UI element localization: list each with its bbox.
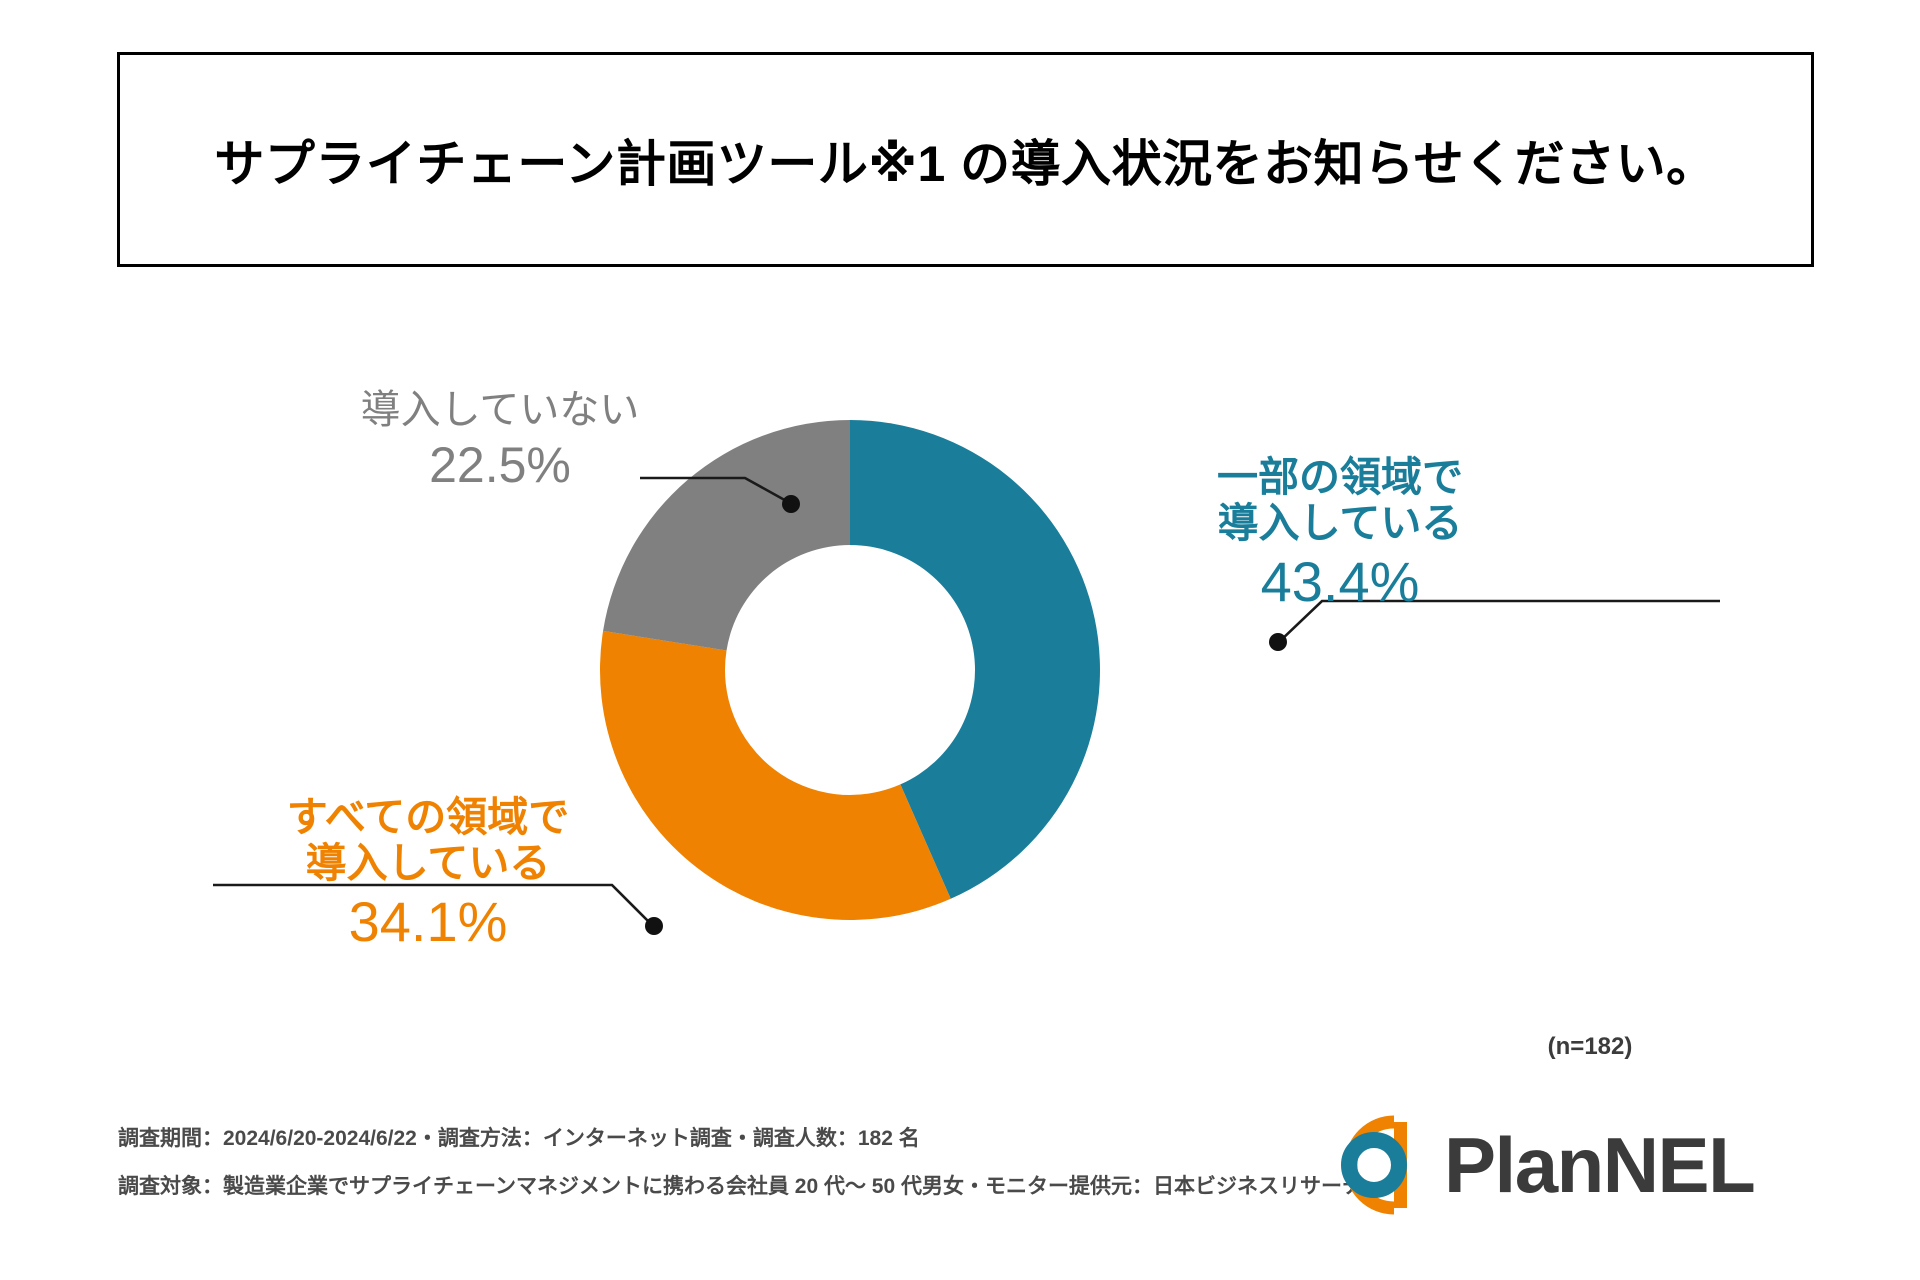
callout-none-line1: 導入していない	[361, 388, 640, 433]
footnote-line-1: 調査期間：2024/6/20-2024/6/22・調査方法：インターネット調査・…	[118, 1128, 1318, 1149]
callout-none-percent: 22.5%	[361, 437, 640, 493]
plannel-logo-mark-icon	[1322, 1113, 1426, 1217]
donut-slice-all[interactable]	[600, 631, 951, 920]
sample-size-label: (n=182)	[1548, 1033, 1633, 1061]
callout-all: すべての領域で 導入している 34.1%	[287, 795, 570, 954]
callout-all-line2: 導入している	[287, 841, 570, 887]
plannel-logo: PlanNEL	[1322, 1110, 1822, 1220]
footnote-line-2: 調査対象：製造業企業でサプライチェーンマネジメントに携わる会社員 20 代～ 5…	[118, 1176, 1318, 1197]
callout-partial-line2: 導入している	[1217, 501, 1463, 547]
footnotes: 調査期間：2024/6/20-2024/6/22・調査方法：インターネット調査・…	[118, 1128, 1318, 1224]
callout-none: 導入していない 22.5%	[361, 388, 640, 493]
plannel-wordmark: PlanNEL	[1444, 1126, 1754, 1204]
callout-all-line1: すべての領域で	[287, 795, 570, 841]
callout-partial-percent: 43.4%	[1217, 551, 1463, 614]
callout-partial: 一部の領域で 導入している 43.4%	[1217, 455, 1463, 614]
callout-all-percent: 34.1%	[287, 891, 570, 954]
donut-chart: 一部の領域で 導入している 43.4% すべての領域で 導入している 34.1%…	[0, 0, 1920, 1280]
leader-dot-partial	[1269, 633, 1287, 651]
callout-partial-line1: 一部の領域で	[1217, 455, 1463, 501]
donut-slice-none[interactable]	[603, 420, 850, 650]
